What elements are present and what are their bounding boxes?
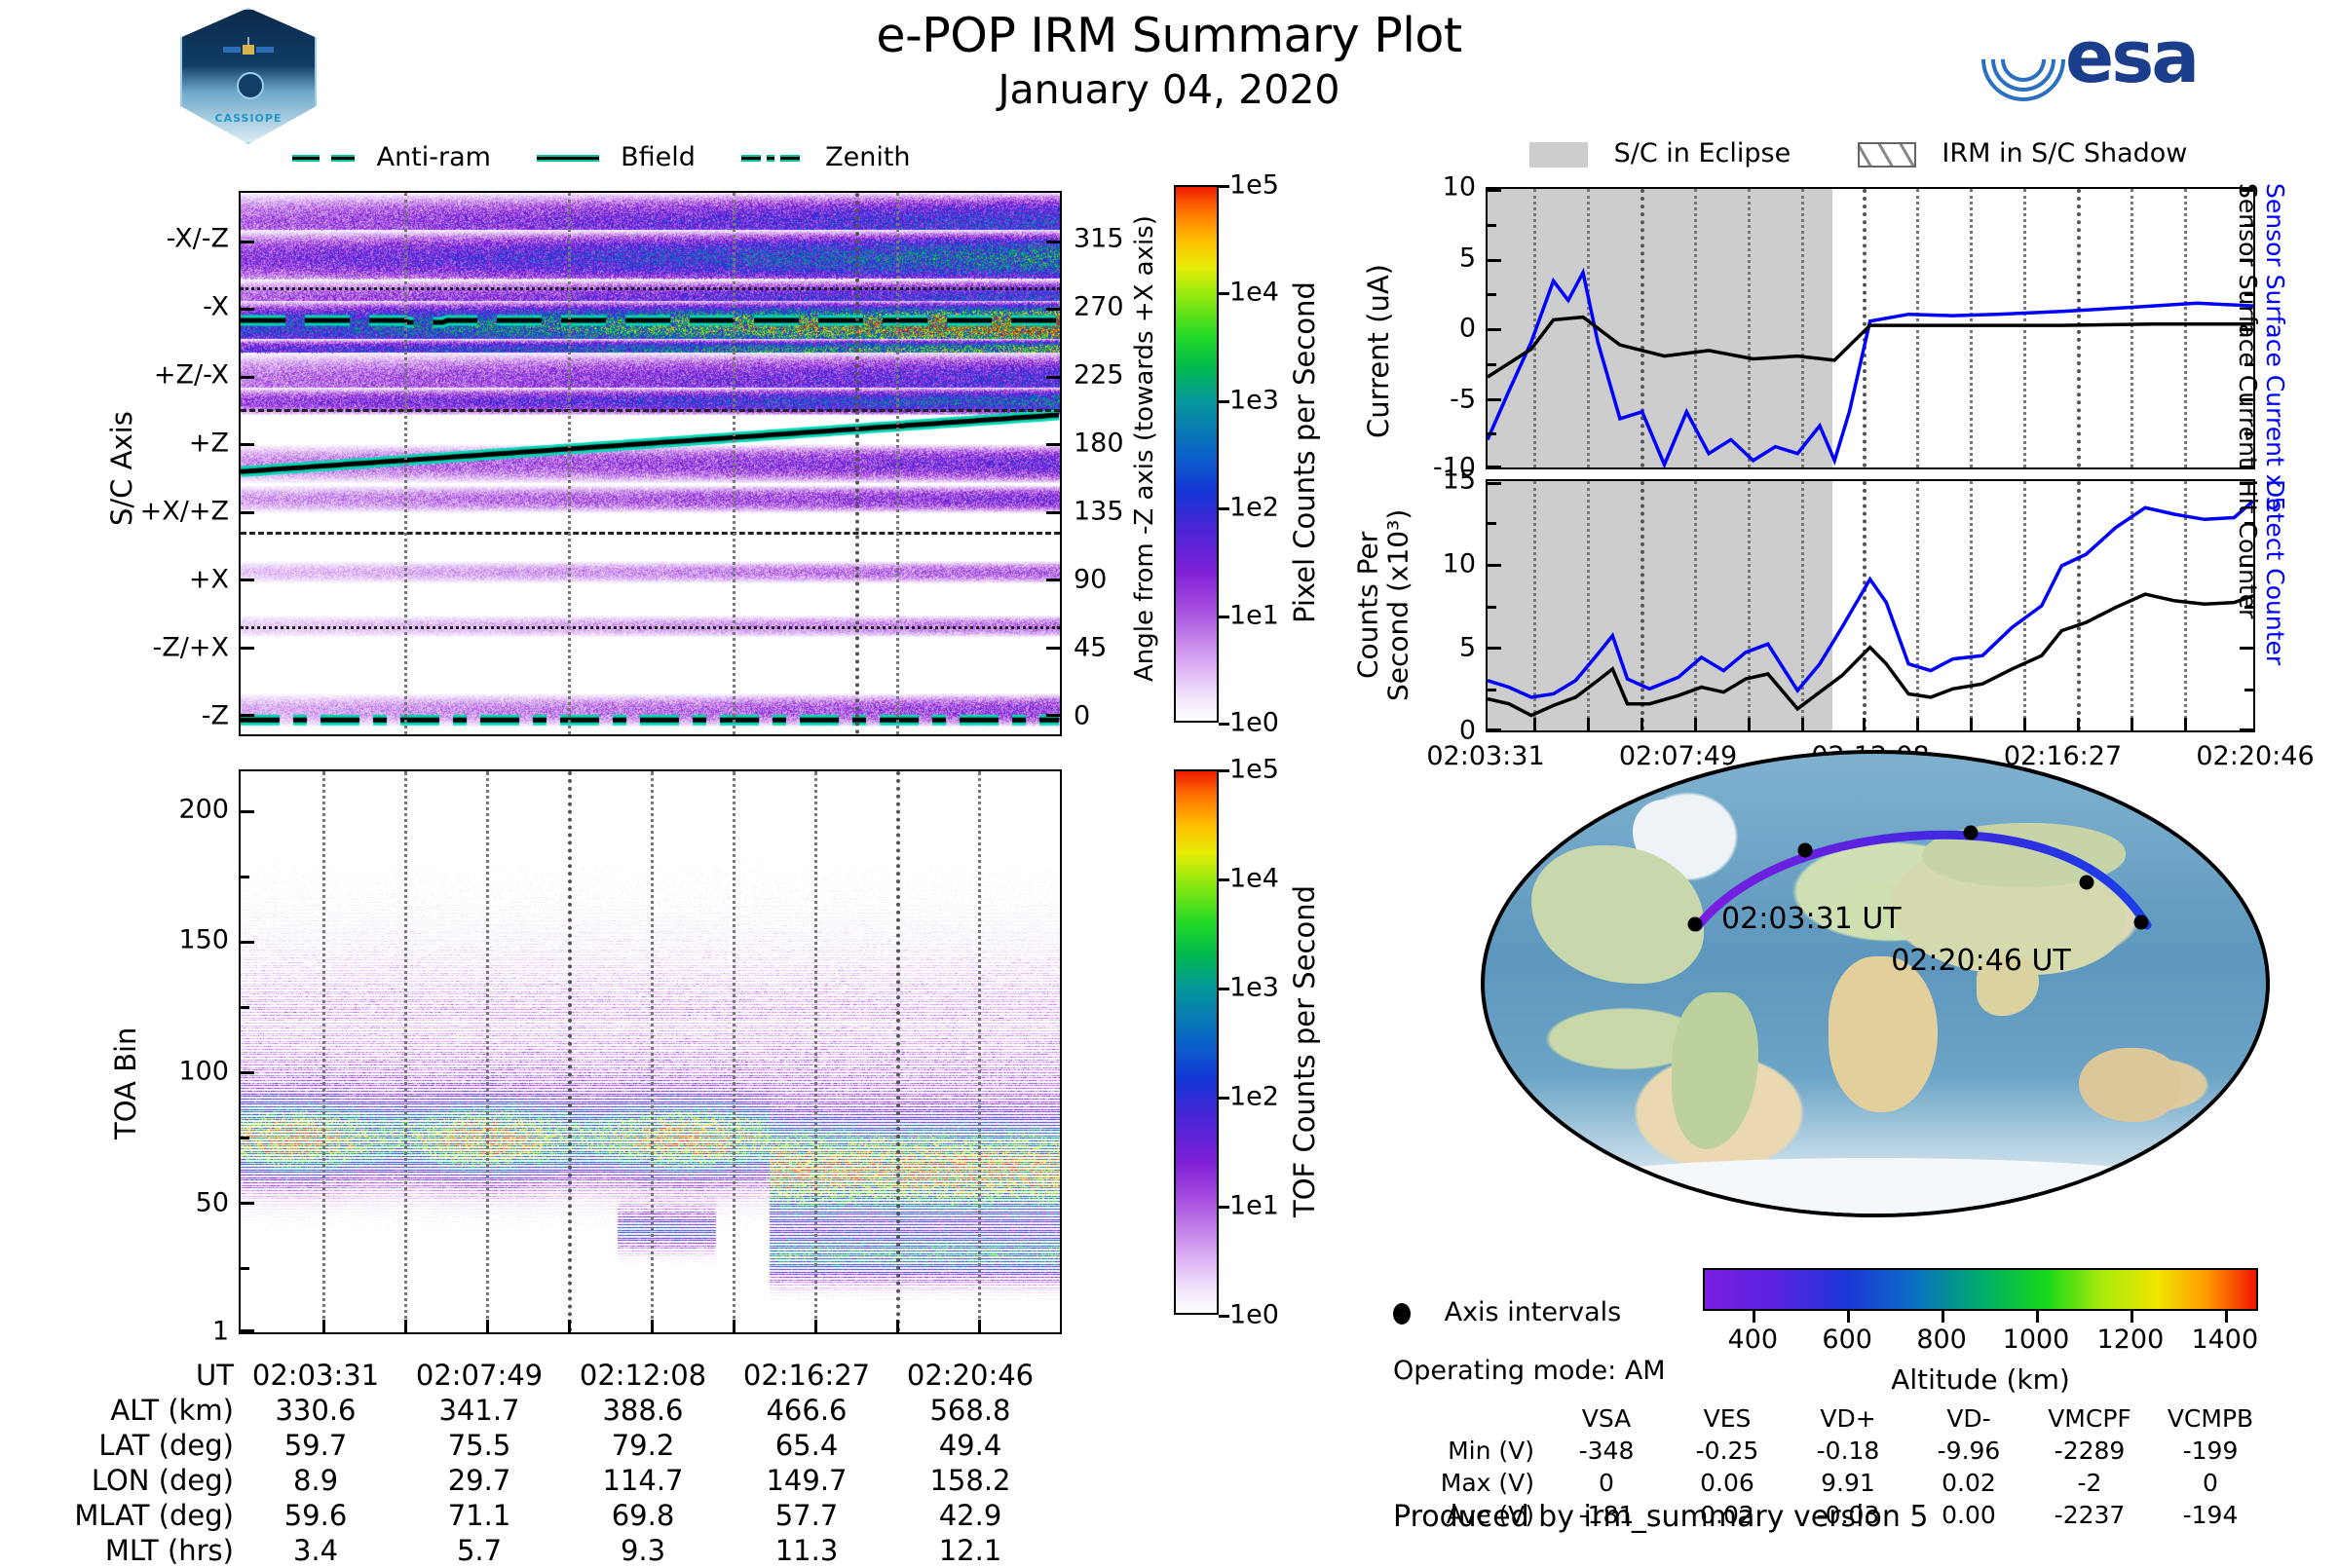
lat-col-1: 75.5 <box>397 1428 561 1463</box>
counts-tick-5: 5 <box>1459 633 1476 663</box>
volt-row-label-min: Min (V) <box>1417 1435 1546 1467</box>
track-end-label: 02:20:46 UT <box>1891 944 2071 978</box>
alt-cbar-tick-600: 600 <box>1822 1325 1872 1355</box>
min-vdp: -0.18 <box>1788 1435 1908 1467</box>
pixel-counts-heatmap-panel <box>239 191 1062 736</box>
counts-tick-0: 0 <box>1459 716 1476 746</box>
pixel-cbar-tick-1e5: 1e5 <box>1229 170 1279 201</box>
mlat-col-3: 57.7 <box>725 1498 888 1533</box>
track-point-1 <box>1797 843 1812 858</box>
lon-col-4: 158.2 <box>888 1463 1052 1498</box>
current-line-panel <box>1486 187 2255 469</box>
pixel-panel-ylabel: S/C Axis <box>105 411 138 526</box>
angle-tick-3: 180 <box>1074 429 1124 459</box>
legend-left: Anti-ram Bfield Zenith <box>292 142 911 172</box>
angle-tick-7: 0 <box>1074 701 1090 731</box>
toa-tick-200: 200 <box>178 794 229 824</box>
ut-col-1: 02:07:49 <box>397 1358 561 1393</box>
legend-label-irm-shadow: IRM in S/C Shadow <box>1942 138 2187 168</box>
volt-col-ves: VES <box>1667 1402 1788 1435</box>
mlat-col-4: 42.9 <box>888 1498 1052 1533</box>
angle-tick-5: 90 <box>1074 565 1107 595</box>
angle-tick-2: 225 <box>1074 360 1124 391</box>
counts-right-label-black: Hit Counter <box>2234 479 2262 618</box>
ave-vcmpb: -194 <box>2150 1499 2271 1531</box>
current-tick-0: 0 <box>1459 314 1476 344</box>
counts-right-label-blue: Detect Counter <box>2261 479 2289 665</box>
legend-right: S/C in Eclipse IRM in S/C Shadow <box>1529 138 2187 168</box>
altitude-colorbar: 400 600 800 1000 1200 1400 Altitude (km) <box>1703 1268 2258 1311</box>
table-row-mlt: MLT (hrs) 3.4 5.7 9.3 11.3 12.1 <box>39 1533 1052 1568</box>
voltage-row-max: Max (V) 0 0.06 9.91 0.02 -2 0 <box>1417 1467 2271 1499</box>
sc-axis-tick-7: -Z <box>202 701 229 731</box>
toa-panel-ylabel: TOA Bin <box>109 1027 142 1139</box>
ut-col-4: 02:20:46 <box>888 1358 1052 1393</box>
esa-logo-text: esa <box>2065 16 2197 99</box>
counts-tick-15: 15 <box>1443 466 1476 496</box>
axis-intervals-legend: Axis intervals <box>1393 1297 1621 1327</box>
irm-shadow-hatch-icon <box>1858 142 1916 168</box>
toa-tick-150: 150 <box>178 925 229 955</box>
pixel-cbar-tick-1e2: 1e2 <box>1229 493 1279 523</box>
sc-axis-tick-3: +Z <box>189 429 229 459</box>
current-right-label-black: Sensor Surface Current <box>2234 183 2262 467</box>
alt-cbar-tick-1400: 1400 <box>2191 1325 2258 1355</box>
voltage-row-min: Min (V) -348 -0.25 -0.18 -9.96 -2289 -19… <box>1417 1435 2271 1467</box>
counts-panel-ylabel-wrap: Counts Per Second (x10³) <box>1349 467 1408 711</box>
mlt-col-2: 9.3 <box>561 1533 725 1568</box>
zenith-line-icon <box>741 155 804 162</box>
mlat-col-1: 71.1 <box>397 1498 561 1533</box>
tof-counts-colorbar: 1e5 1e4 1e3 1e2 1e1 1e0 <box>1174 769 1219 1315</box>
bfield-line-icon <box>537 155 599 162</box>
alt-col-4: 568.8 <box>888 1393 1052 1428</box>
toa-bin-heatmap-panel <box>239 769 1062 1334</box>
max-vcmpb: 0 <box>2150 1467 2271 1499</box>
max-ves: 0.06 <box>1667 1467 1788 1499</box>
mission-patch-label: CASSIOPE <box>180 112 317 125</box>
mlat-col-2: 69.8 <box>561 1498 725 1533</box>
sc-axis-tick-0: -X/-Z <box>167 224 229 254</box>
alt-col-1: 341.7 <box>397 1393 561 1428</box>
volt-col-vsa: VSA <box>1546 1402 1667 1435</box>
mlt-col-3: 11.3 <box>725 1533 888 1568</box>
orbit-track <box>1485 754 2270 1217</box>
sc-axis-tick-2: +Z/-X <box>154 360 229 391</box>
volt-row-label-max: Max (V) <box>1417 1467 1546 1499</box>
lat-col-3: 65.4 <box>725 1428 888 1463</box>
axis-interval-dot-icon <box>1393 1303 1411 1325</box>
alt-cbar-tick-800: 800 <box>1916 1325 1967 1355</box>
angle-tick-0: 315 <box>1074 224 1124 254</box>
volt-col-vmcpf: VMCPF <box>2029 1402 2150 1435</box>
current-tick-5: 5 <box>1459 243 1476 273</box>
ave-vmcpf: -2237 <box>2029 1499 2150 1531</box>
table-row-lon: LON (deg) 8.9 29.7 114.7 149.7 158.2 <box>39 1463 1052 1498</box>
legend-label-sc-eclipse: S/C in Eclipse <box>1614 138 1791 168</box>
row-header-alt: ALT (km) <box>39 1393 234 1428</box>
min-vmcpf: -2289 <box>2029 1435 2150 1467</box>
ut-col-3: 02:16:27 <box>725 1358 888 1393</box>
max-vmcpf: -2 <box>2029 1467 2150 1499</box>
sc-axis-tick-1: -X <box>203 292 229 322</box>
track-point-2 <box>1963 826 1978 840</box>
lon-col-3: 149.7 <box>725 1463 888 1498</box>
mlat-col-0: 59.6 <box>234 1498 397 1533</box>
anti-ram-line-icon <box>292 155 355 162</box>
alt-cbar-tick-1000: 1000 <box>2003 1325 2070 1355</box>
row-header-lon: LON (deg) <box>39 1463 234 1498</box>
footer-produced-by: Produced by irm_summary version 5 <box>1393 1500 1928 1534</box>
current-panel-ylabel: Current (uA) <box>1362 264 1395 438</box>
min-vcmpb: -199 <box>2150 1435 2271 1467</box>
volt-col-vcmpb: VCMPB <box>2150 1402 2271 1435</box>
ut-col-2: 02:12:08 <box>561 1358 725 1393</box>
pixel-cbar-tick-1e1: 1e1 <box>1229 600 1279 630</box>
alt-col-0: 330.6 <box>234 1393 397 1428</box>
axis-intervals-label: Axis intervals <box>1445 1297 1622 1327</box>
sc-axis-tick-6: -Z/+X <box>153 633 229 663</box>
current-tick-m5: -5 <box>1450 384 1476 414</box>
altitude-colorbar-label: Altitude (km) <box>1703 1363 2258 1396</box>
alt-col-3: 466.6 <box>725 1393 888 1428</box>
voltage-table-header-row: VSA VES VD+ VD- VMCPF VCMPB <box>1417 1402 2271 1435</box>
track-point-start <box>1687 916 1702 931</box>
max-vdm: 0.02 <box>1908 1467 2029 1499</box>
world-map-globe <box>1481 750 2270 1217</box>
tof-colorbar-label: TOF Counts per Second <box>1288 885 1321 1217</box>
table-row-lat: LAT (deg) 59.7 75.5 79.2 65.4 49.4 <box>39 1428 1052 1463</box>
lon-col-0: 8.9 <box>234 1463 397 1498</box>
esa-logo: esa <box>1978 12 2250 99</box>
ground-track-map: 02:03:31 UT 02:20:46 UT <box>1481 750 2270 1217</box>
lat-col-0: 59.7 <box>234 1428 397 1463</box>
mlt-col-0: 3.4 <box>234 1533 397 1568</box>
counts-tick-10: 10 <box>1443 548 1476 579</box>
volt-col-vdp: VD+ <box>1788 1402 1908 1435</box>
lon-col-2: 114.7 <box>561 1463 725 1498</box>
tof-cbar-tick-1e2: 1e2 <box>1229 1082 1279 1112</box>
tof-cbar-tick-1e3: 1e3 <box>1229 973 1279 1003</box>
cassiope-mission-patch-icon: CASSIOPE <box>180 8 317 144</box>
ephemeris-table: UT 02:03:31 02:07:49 02:12:08 02:16:27 0… <box>39 1358 1052 1568</box>
min-vsa: -348 <box>1546 1435 1667 1467</box>
ut-col-0: 02:03:31 <box>234 1358 397 1393</box>
min-vdm: -9.96 <box>1908 1435 2029 1467</box>
max-vsa: 0 <box>1546 1467 1667 1499</box>
sc-eclipse-swatch-icon <box>1529 142 1588 168</box>
toa-tick-100: 100 <box>178 1057 229 1087</box>
tof-cbar-tick-1e4: 1e4 <box>1229 864 1279 894</box>
table-row-mlat: MLAT (deg) 59.6 71.1 69.8 57.7 42.9 <box>39 1498 1052 1533</box>
track-point-end <box>2133 915 2148 930</box>
counts-panel-ylabel: Counts Per Second (x10³) <box>1353 483 1414 727</box>
alt-cbar-tick-400: 400 <box>1728 1325 1779 1355</box>
alt-col-2: 388.6 <box>561 1393 725 1428</box>
legend-label-anti-ram: Anti-ram <box>377 142 491 172</box>
pixel-counts-colorbar: 1e5 1e4 1e3 1e2 1e1 1e0 <box>1174 185 1219 723</box>
operating-mode-label: Operating mode: AM <box>1393 1356 1666 1386</box>
track-start-label: 02:03:31 UT <box>1721 902 1902 936</box>
table-row-alt: ALT (km) 330.6 341.7 388.6 466.6 568.8 <box>39 1393 1052 1428</box>
sc-axis-tick-5: +X <box>189 565 229 595</box>
tof-cbar-tick-1e5: 1e5 <box>1229 755 1279 785</box>
mlt-col-1: 5.7 <box>397 1533 561 1568</box>
toa-tick-1: 1 <box>212 1317 229 1347</box>
pixel-colorbar-label: Pixel Counts per Second <box>1288 281 1321 623</box>
pixel-panel-right-ylabel: Angle from -Z axis (towards +X axis) <box>1130 215 1159 682</box>
volt-col-vdm: VD- <box>1908 1402 2029 1435</box>
counts-line-panel <box>1486 479 2255 732</box>
lat-col-4: 49.4 <box>888 1428 1052 1463</box>
mlt-col-4: 12.1 <box>888 1533 1052 1568</box>
legend-label-bfield: Bfield <box>621 142 696 172</box>
min-ves: -0.25 <box>1667 1435 1788 1467</box>
angle-tick-1: 270 <box>1074 292 1124 322</box>
tof-cbar-tick-1e1: 1e1 <box>1229 1191 1279 1221</box>
angle-tick-6: 45 <box>1074 633 1107 663</box>
sc-axis-tick-4: +X/+Z <box>140 497 229 527</box>
current-tick-10: 10 <box>1443 172 1476 203</box>
lon-col-1: 29.7 <box>397 1463 561 1498</box>
toa-tick-50: 50 <box>196 1187 229 1217</box>
current-right-label-blue: Sensor Surface Current x 5 <box>2261 183 2289 511</box>
row-header-ut: UT <box>39 1358 234 1393</box>
lat-col-2: 79.2 <box>561 1428 725 1463</box>
tof-cbar-tick-1e0: 1e0 <box>1229 1300 1279 1330</box>
angle-tick-4: 135 <box>1074 497 1124 527</box>
max-vdp: 9.91 <box>1788 1467 1908 1499</box>
pixel-cbar-tick-1e4: 1e4 <box>1229 278 1279 308</box>
legend-label-zenith: Zenith <box>825 142 910 172</box>
row-header-lat: LAT (deg) <box>39 1428 234 1463</box>
row-header-mlat: MLAT (deg) <box>39 1498 234 1533</box>
alt-cbar-tick-1200: 1200 <box>2097 1325 2165 1355</box>
row-header-mlt: MLT (hrs) <box>39 1533 234 1568</box>
pixel-cbar-tick-1e3: 1e3 <box>1229 385 1279 415</box>
table-row-ut: UT 02:03:31 02:07:49 02:12:08 02:16:27 0… <box>39 1358 1052 1393</box>
track-point-3 <box>2079 876 2093 890</box>
pixel-cbar-tick-1e0: 1e0 <box>1229 708 1279 738</box>
current-tick-m10: -10 <box>1433 452 1476 482</box>
